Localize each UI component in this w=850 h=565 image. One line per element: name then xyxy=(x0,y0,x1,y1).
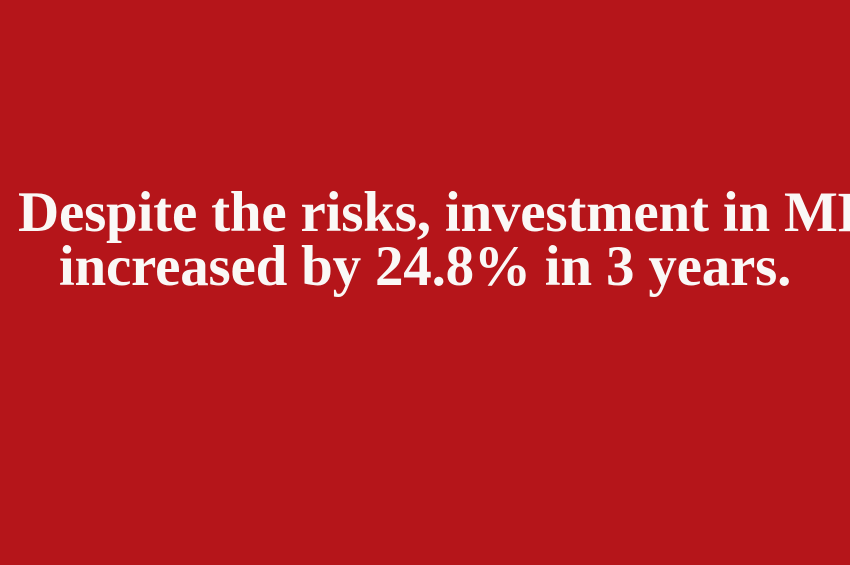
statement-slide: Despite the risks, investment in MF incr… xyxy=(0,0,850,565)
statement-text-block: Despite the risks, investment in MF incr… xyxy=(0,186,850,294)
statement-line-1: Despite the risks, investment in MF xyxy=(18,186,832,240)
statement-line-2: increased by 24.8% in 3 years. xyxy=(18,240,832,294)
